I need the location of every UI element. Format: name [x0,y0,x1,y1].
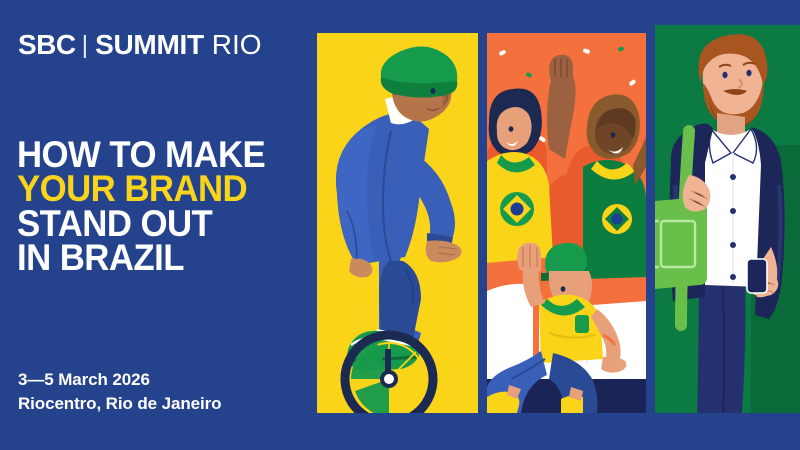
left-text-column: SBC | SUMMIT RIO HOW TO MAKE YOUR BRAND … [0,0,318,450]
event-venue: Riocentro, Rio de Janeiro [18,392,221,416]
delegate-illustration [655,25,800,425]
headline-line-2: YOUR BRAND [17,172,265,206]
logo-divider: | [82,33,89,58]
delegate-panel [655,25,800,425]
football-fans-illustration [487,33,646,413]
event-dates: 3—5 March 2026 [18,368,221,392]
football-fans-panel [487,33,646,413]
brand-logo: SBC | SUMMIT RIO [18,31,262,59]
event-details: 3—5 March 2026 Riocentro, Rio de Janeiro [18,368,221,416]
sbc-summit-rio-banner: SBC | SUMMIT RIO HOW TO MAKE YOUR BRAND … [0,0,800,450]
logo-rio-text: RIO [212,31,262,59]
unicyclist-illustration [317,33,478,413]
headline-line-1: HOW TO MAKE [17,138,265,172]
unicyclist-panel [317,33,478,413]
headline-line-4: IN BRAZIL [17,241,265,275]
headline-line-3: STAND OUT [17,207,265,241]
headline: HOW TO MAKE YOUR BRAND STAND OUT IN BRAZ… [17,138,281,276]
logo-summit-text: SUMMIT [95,31,204,59]
logo-sbc-text: SBC [18,31,76,59]
